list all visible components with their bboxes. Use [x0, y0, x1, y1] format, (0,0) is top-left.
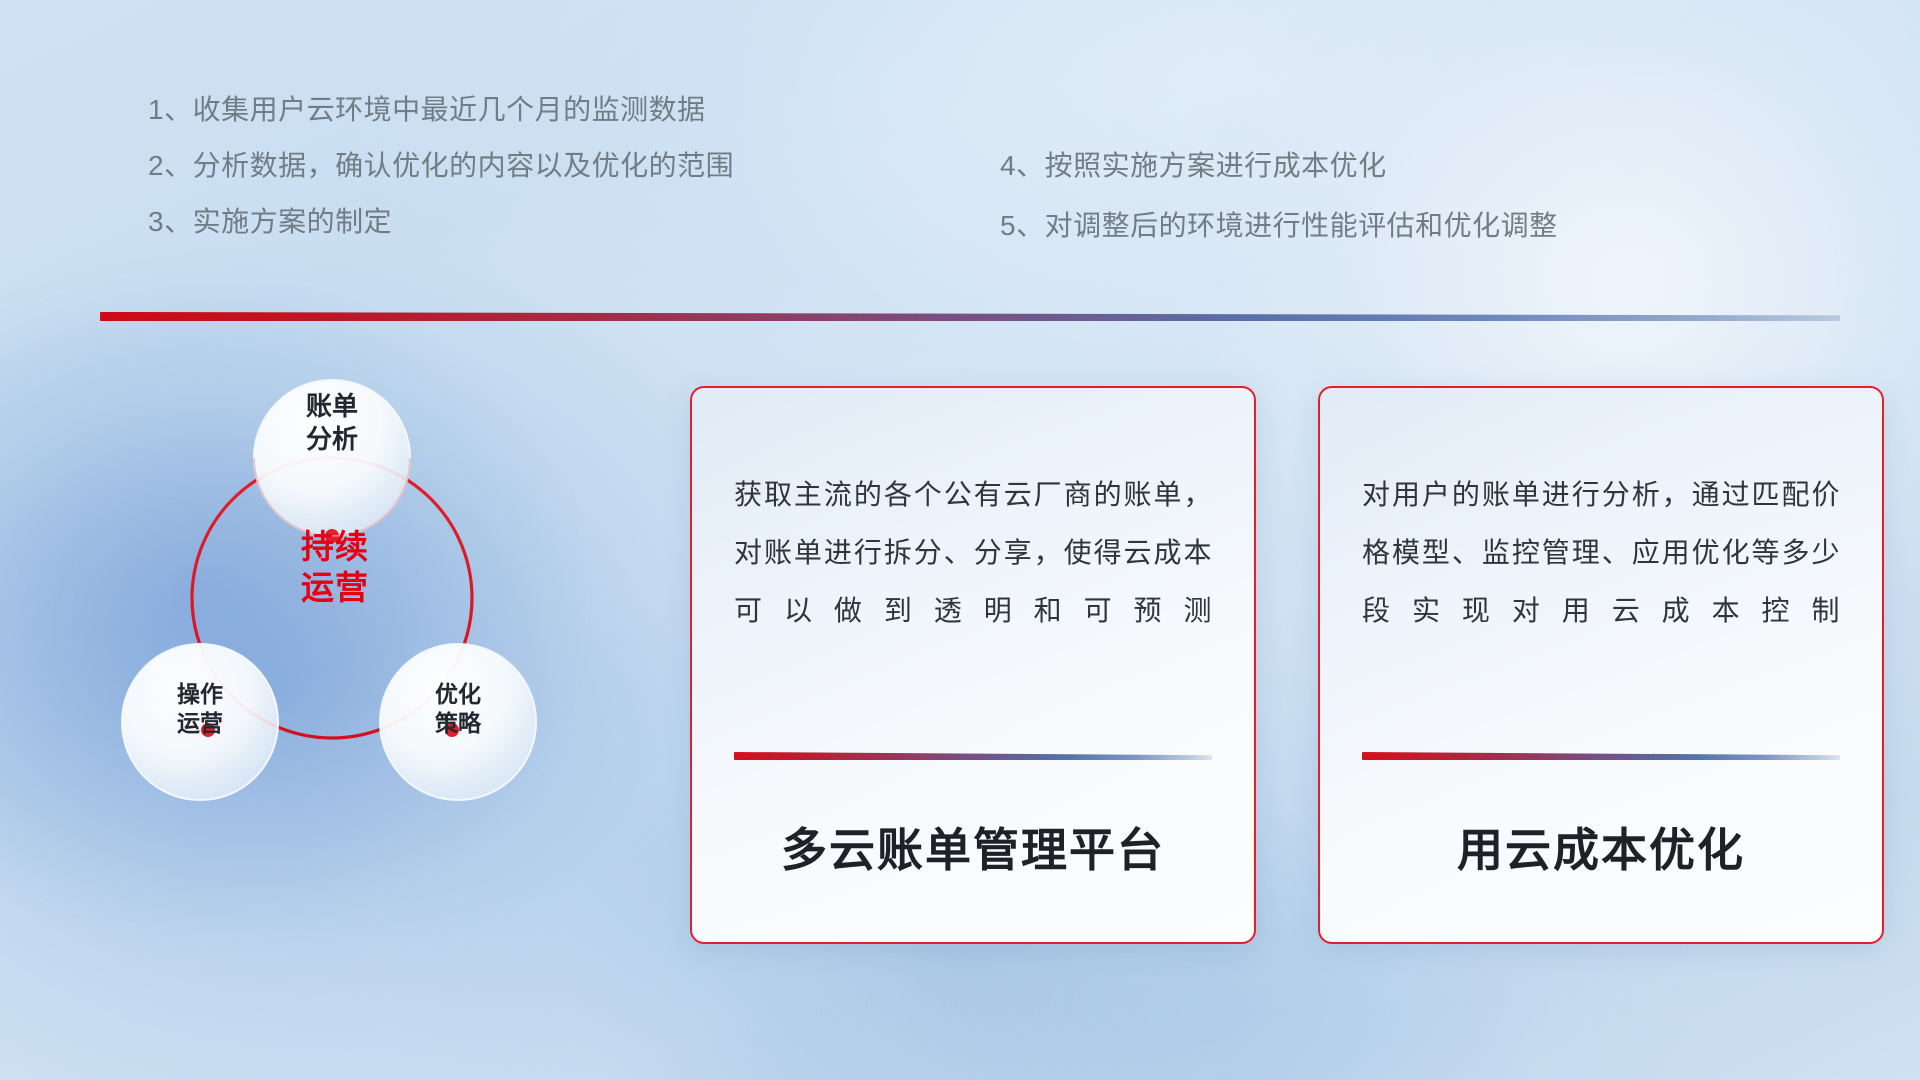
venn-label-optimization-policy: 优化 策略 [388, 680, 528, 739]
venn-label-operation-management-line2: 运营 [130, 709, 270, 738]
card-accent-rule [1362, 752, 1840, 760]
step-item-1: 1、收集用户云环境中最近几个月的监测数据 [148, 96, 734, 124]
venn-label-billing-analysis: 账单 分析 [257, 390, 407, 457]
venn-label-billing-analysis-line1: 账单 [257, 390, 407, 423]
card-cloud-cost-optimization[interactable]: 对用户的账单进行分析，通过匹配价格模型、监控管理、应用优化等多少段实现对用云成本… [1318, 386, 1884, 944]
venn-label-optimization-policy-line2: 策略 [388, 709, 528, 738]
card-multi-cloud-billing-platform[interactable]: 获取主流的各个公有云厂商的账单，对账单进行拆分、分享，使得云成本可以做到透明和可… [690, 386, 1256, 944]
step-item-2: 2、分析数据，确认优化的内容以及优化的范围 [148, 152, 734, 180]
card-title: 用云成本优化 [1362, 760, 1840, 942]
venn-label-billing-analysis-line2: 分析 [257, 423, 407, 456]
venn-label-operation-management-line1: 操作 [130, 680, 270, 709]
venn-center-label-line2: 运营 [255, 567, 415, 608]
step-item-3: 3、实施方案的制定 [148, 208, 734, 236]
venn-diagram: 账单 分析 操作 运营 优化 策略 持续 运营 [100, 350, 640, 910]
card-body-text: 对用户的账单进行分析，通过匹配价格模型、监控管理、应用优化等多少段实现对用云成本… [1362, 466, 1840, 641]
card-body-text: 获取主流的各个公有云厂商的账单，对账单进行拆分、分享，使得云成本可以做到透明和可… [734, 466, 1212, 641]
step-item-4: 4、按照实施方案进行成本优化 [1000, 152, 1558, 180]
venn-center-label: 持续 运营 [255, 526, 415, 609]
venn-center-label-line1: 持续 [255, 526, 415, 567]
venn-label-optimization-policy-line1: 优化 [388, 680, 528, 709]
step-item-5: 5、对调整后的环境进行性能评估和优化调整 [1000, 212, 1558, 240]
card-title: 多云账单管理平台 [734, 760, 1212, 942]
venn-label-operation-management: 操作 运营 [130, 680, 270, 739]
card-accent-rule [734, 752, 1212, 760]
feature-cards: 获取主流的各个公有云厂商的账单，对账单进行拆分、分享，使得云成本可以做到透明和可… [690, 386, 1884, 944]
steps-right-column: 4、按照实施方案进行成本优化 5、对调整后的环境进行性能评估和优化调整 [1000, 152, 1558, 272]
steps-left-column: 1、收集用户云环境中最近几个月的监测数据 2、分析数据，确认优化的内容以及优化的… [148, 96, 734, 264]
